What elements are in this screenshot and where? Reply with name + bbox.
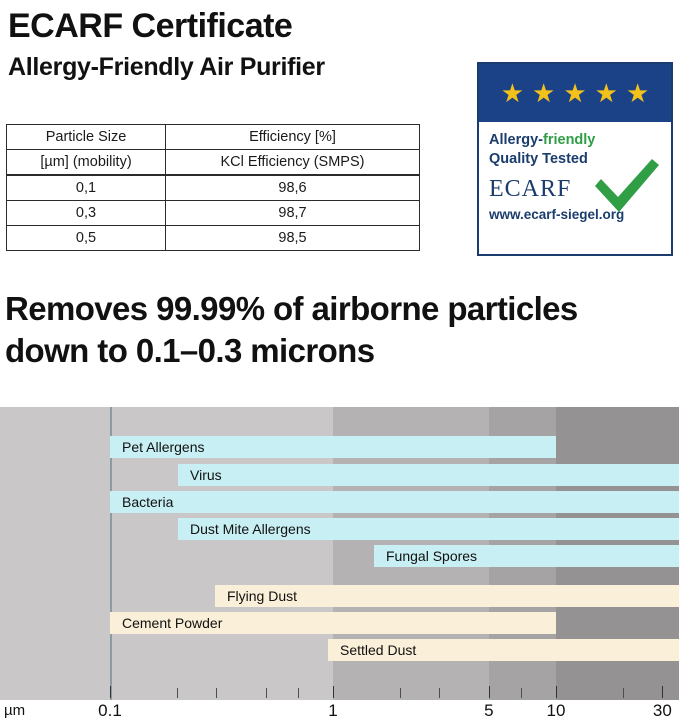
axis-tick-label: 5: [484, 700, 493, 722]
axis-tick-minor: [266, 688, 267, 698]
axis-tick-major: [662, 686, 663, 698]
chart-bar-label: Pet Allergens: [110, 436, 205, 458]
axis-tick-minor: [400, 688, 401, 698]
star-icon: ★: [532, 80, 555, 106]
star-icon: ★: [501, 80, 524, 106]
chart-bar-label: Settled Dust: [328, 639, 416, 661]
table-header-row-1: Particle Size Efficiency [%]: [7, 125, 420, 150]
axis-tick-minor: [521, 688, 522, 698]
page-title: ECARF Certificate: [8, 0, 478, 48]
axis-tick-minor: [177, 688, 178, 698]
star-rating: ★ ★ ★ ★ ★: [479, 64, 671, 122]
ecarf-certification-badge: ★ ★ ★ ★ ★ Allergy-friendly Quality Teste…: [477, 62, 673, 256]
column-header-particle-size: Particle Size: [7, 125, 166, 150]
claim-line-2: down to 0.1–0.3 microns: [5, 330, 679, 372]
axis-tick-label: 30: [653, 700, 672, 722]
badge-friendly-word: friendly: [543, 132, 595, 148]
chart-bar: Dust Mite Allergens: [178, 518, 679, 540]
chart-bar-label: Virus: [178, 464, 222, 486]
claim-line-1: Removes 99.99% of airborne particles: [5, 288, 679, 330]
axis-tick-label: 1: [328, 700, 337, 722]
table-row: 0,1 98,6: [7, 175, 420, 201]
chart-bar: Virus: [178, 464, 679, 486]
star-icon: ★: [626, 80, 649, 106]
axis-tick-minor: [216, 688, 217, 698]
table-body: Particle Size Efficiency [%] [µm] (mobil…: [7, 125, 420, 251]
table-header-row-2: [µm] (mobility) KCl Efficiency (SMPS): [7, 150, 420, 176]
axis-tick-minor: [439, 688, 440, 698]
chart-bar: Flying Dust: [215, 585, 679, 607]
badge-allergy-friendly-line: Allergy-friendly: [489, 131, 671, 150]
cell-particle-size: 0,5: [7, 226, 166, 251]
axis-tick-major: [489, 686, 490, 698]
marketing-claim: Removes 99.99% of airborne particles dow…: [5, 288, 679, 372]
chart-bar-label: Flying Dust: [215, 585, 297, 607]
cell-efficiency: 98,7: [166, 201, 420, 226]
chart-bar: Cement Powder: [110, 612, 556, 634]
table-row: 0,3 98,7: [7, 201, 420, 226]
axis-tick-major: [556, 686, 557, 698]
cell-particle-size: 0,3: [7, 201, 166, 226]
chart-bar: Bacteria: [110, 491, 679, 513]
chart-x-axis: µm 0.1151030: [0, 700, 679, 728]
axis-tick-minor: [298, 688, 299, 698]
column-header-efficiency: Efficiency [%]: [166, 125, 420, 150]
header-block: ECARF Certificate Allergy-Friendly Air P…: [8, 0, 478, 84]
axis-tick-major: [333, 686, 334, 698]
column-subheader-unit: [µm] (mobility): [7, 150, 166, 176]
badge-allergy-word: Allergy-: [489, 132, 543, 148]
chart-bar-label: Bacteria: [110, 491, 173, 513]
cell-particle-size: 0,1: [7, 175, 166, 201]
badge-body: Allergy-friendly Quality Tested ECARF ww…: [479, 122, 671, 254]
efficiency-table: Particle Size Efficiency [%] [µm] (mobil…: [6, 124, 420, 251]
chart-bar: Pet Allergens: [110, 436, 556, 458]
axis-tick-major: [110, 686, 111, 698]
axis-tick-minor: [623, 688, 624, 698]
column-subheader-method: KCl Efficiency (SMPS): [166, 150, 420, 176]
chart-bar-label: Dust Mite Allergens: [178, 518, 311, 540]
star-icon: ★: [595, 80, 618, 106]
chart-bar-label: Fungal Spores: [374, 545, 477, 567]
axis-tick-label: 0.1: [98, 700, 122, 722]
star-icon: ★: [563, 80, 586, 106]
chart-bar-label: Cement Powder: [110, 612, 222, 634]
table-row: 0,5 98,5: [7, 226, 420, 251]
axis-unit-label: µm: [4, 700, 25, 722]
cell-efficiency: 98,6: [166, 175, 420, 201]
cell-efficiency: 98,5: [166, 226, 420, 251]
axis-tick-label: 10: [547, 700, 566, 722]
chart-bar: Settled Dust: [328, 639, 679, 661]
particle-size-chart: Pet AllergensVirusBacteriaDust Mite Alle…: [0, 407, 679, 700]
checkmark-icon: [591, 156, 663, 218]
chart-bar: Fungal Spores: [374, 545, 679, 567]
page-subtitle: Allergy-Friendly Air Purifier: [8, 48, 478, 84]
